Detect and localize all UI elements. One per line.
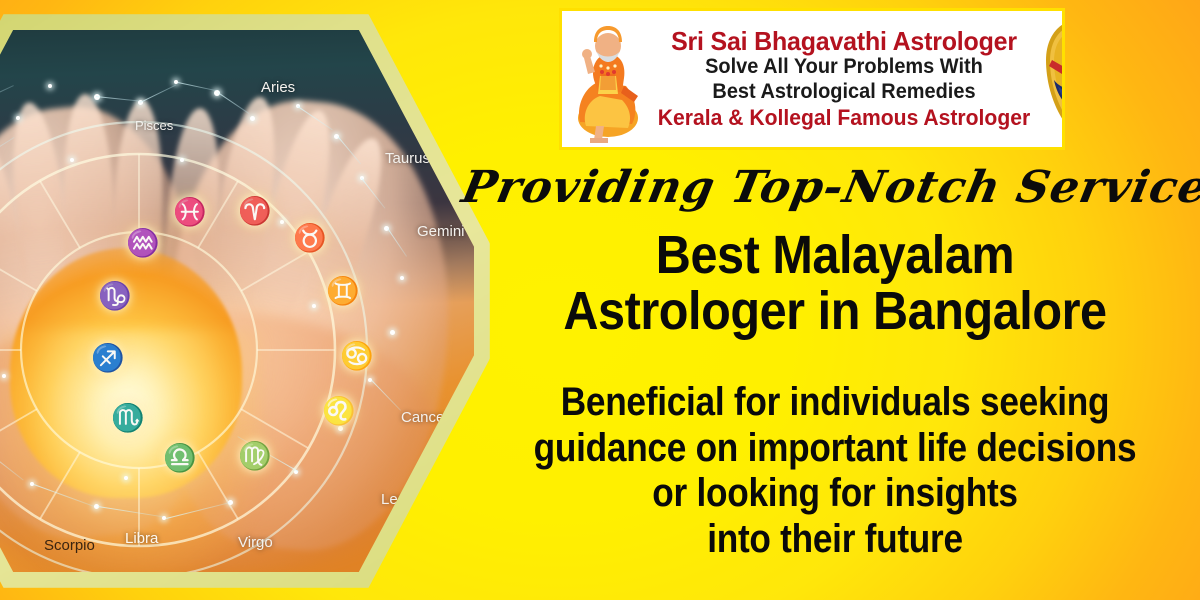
poster-canvas: ♓ ♈ ♒ ♑ ♉ ♊ ♋ ♐ ♌ ♏ ♎ ♍ Aries Pisces Tau…	[0, 0, 1200, 600]
tagline-2: Best Astrological Remedies	[660, 80, 1029, 105]
hero-hexagon-image: ♓ ♈ ♒ ♑ ♉ ♊ ♋ ♐ ♌ ♏ ♎ ♍ Aries Pisces Tau…	[0, 14, 490, 588]
subcopy-line-2: guidance on important life decisions	[514, 426, 1156, 472]
star	[312, 304, 316, 308]
right-content-column: Sri Sai Bhagavathi Astrologer Solve All …	[470, 0, 1200, 600]
subcopy-line-3: or looking for insights	[514, 471, 1156, 517]
star	[280, 220, 284, 224]
tagline-1: Solve All Your Problems With	[660, 55, 1029, 80]
star	[16, 116, 20, 120]
subcopy-line-1: Beneficial for individuals seeking	[514, 380, 1156, 426]
star	[2, 374, 6, 378]
subcopy-block: Beneficial for individuals seeking guida…	[514, 380, 1156, 562]
region-line: Kerala & Kollegal Famous Astrologer	[658, 106, 1030, 131]
brand-text-block: Sri Sai Bhagavathi Astrologer Solve All …	[648, 25, 1040, 132]
star	[338, 426, 343, 431]
headline-line-1: Best Malayalam	[656, 225, 1014, 285]
headline-line-2: Astrologer in Bangalore	[507, 284, 1164, 340]
star	[250, 116, 255, 121]
star	[180, 158, 184, 162]
star	[48, 84, 52, 88]
star	[390, 330, 395, 335]
script-tagline: Providing Top-Notch Services	[458, 162, 1200, 213]
sai-baba-figure-icon	[564, 14, 648, 144]
brand-logo-banner: Sri Sai Bhagavathi Astrologer Solve All …	[559, 8, 1065, 150]
subcopy-line-4: into their future	[514, 517, 1156, 563]
star	[124, 476, 128, 480]
bhagavathi-deity-icon	[1040, 16, 1065, 142]
brand-name: Sri Sai Bhagavathi Astrologer	[658, 27, 1030, 55]
page-title: Best Malayalam Astrologer in Bangalore	[507, 228, 1164, 339]
constellation-line	[178, 82, 217, 91]
star	[400, 276, 404, 280]
star	[70, 158, 74, 162]
